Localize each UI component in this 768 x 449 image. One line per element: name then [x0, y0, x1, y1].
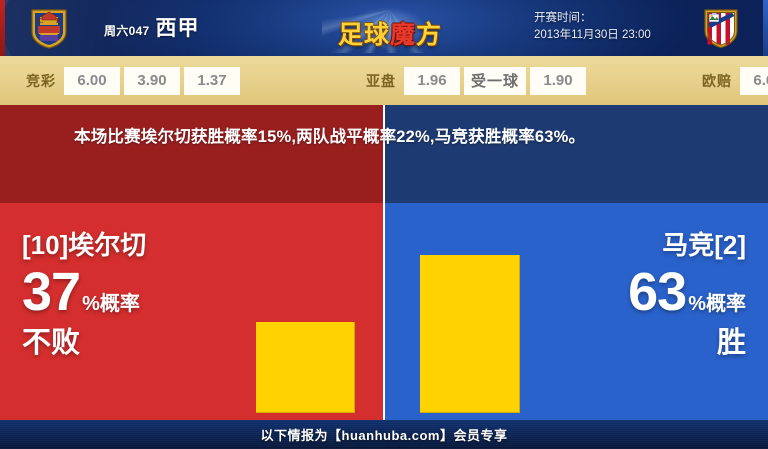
- odds-cell[interactable]: 6.00: [64, 67, 120, 95]
- panel-divider: [383, 105, 385, 420]
- logo-text-part3: 方: [416, 21, 442, 49]
- league-block: 周六047 西甲: [104, 12, 200, 42]
- odds-group-yapan: 亚盘 1.96 受一球 1.90: [366, 67, 590, 95]
- atletico-madrid-crest-icon: [698, 6, 744, 50]
- away-team-stats: 马竞[2] 63 %概率 胜: [531, 229, 746, 361]
- away-verdict: 胜: [531, 325, 746, 361]
- logo-text: 足球魔方: [322, 15, 458, 51]
- kickoff-label: 开赛时间：: [534, 10, 694, 27]
- header-left-accent: [0, 0, 5, 56]
- home-percent-value: 37: [22, 263, 80, 321]
- footer-text: 以下情报为【huanhuba.com】会员专享: [261, 425, 508, 444]
- away-percent-value: 63: [628, 263, 686, 321]
- home-team-stats: [10]埃尔切 37 %概率 不败: [22, 229, 237, 361]
- prediction-headline: 本场比赛埃尔切获胜概率15%,两队战平概率22%,马竞获胜概率63%。: [74, 123, 706, 152]
- odds-group-label: 亚盘: [366, 71, 396, 91]
- kickoff-value: 2013年11月30日 23:00: [534, 27, 694, 44]
- header-right-accent: [763, 0, 768, 56]
- odds-cell-handicap[interactable]: 受一球: [464, 67, 526, 95]
- odds-cell[interactable]: 1.90: [530, 67, 586, 95]
- odds-group-label: 竞彩: [26, 71, 56, 91]
- kickoff-block: 开赛时间： 2013年11月30日 23:00: [534, 10, 694, 44]
- away-team-name: 马竞[2]: [531, 229, 746, 261]
- odds-bar: 竞彩 6.00 3.90 1.37 亚盘 1.96 受一球 1.90 欧赔 6.…: [0, 56, 768, 105]
- prediction-panel: 本场比赛埃尔切获胜概率15%,两队战平概率22%,马竞获胜概率63%。 [10]…: [0, 105, 768, 420]
- odds-cell[interactable]: 1.96: [404, 67, 460, 95]
- away-percent-line: 63 %概率: [531, 263, 746, 321]
- site-logo[interactable]: 足球魔方: [322, 3, 458, 53]
- svg-text:C: C: [39, 17, 44, 25]
- odds-cell[interactable]: 1.37: [184, 67, 240, 95]
- home-team-name: [10]埃尔切: [22, 229, 237, 261]
- match-prediction-card: C F 周六047 西甲 足球魔方 开赛时间： 2013年11月30日 23:0…: [0, 0, 768, 449]
- svg-text:F: F: [56, 17, 60, 25]
- home-percent-line: 37 %概率: [22, 263, 237, 321]
- footer-bar: 以下情报为【huanhuba.com】会员专享: [0, 420, 768, 449]
- logo-text-part2: 魔: [390, 21, 416, 49]
- logo-text-part1: 足球: [338, 21, 390, 49]
- away-percent-suffix: %概率: [688, 287, 746, 316]
- elche-cf-crest-icon: C F: [26, 6, 72, 50]
- probability-bar-home: [256, 322, 355, 413]
- home-verdict: 不败: [22, 325, 237, 361]
- odds-cell[interactable]: 6.60: [740, 67, 768, 95]
- odds-group-oupei: 欧赔 6.60 3.90 1.51: [702, 67, 768, 95]
- header-bar: C F 周六047 西甲 足球魔方 开赛时间： 2013年11月30日 23:0…: [0, 0, 768, 56]
- league-name: 西甲: [156, 12, 200, 42]
- odds-group-label: 欧赔: [702, 71, 732, 91]
- odds-cell[interactable]: 3.90: [124, 67, 180, 95]
- odds-group-jingcai: 竞彩 6.00 3.90 1.37: [26, 67, 244, 95]
- home-percent-suffix: %概率: [82, 287, 140, 316]
- probability-bar-away: [420, 255, 520, 413]
- round-number: 周六047: [104, 22, 150, 39]
